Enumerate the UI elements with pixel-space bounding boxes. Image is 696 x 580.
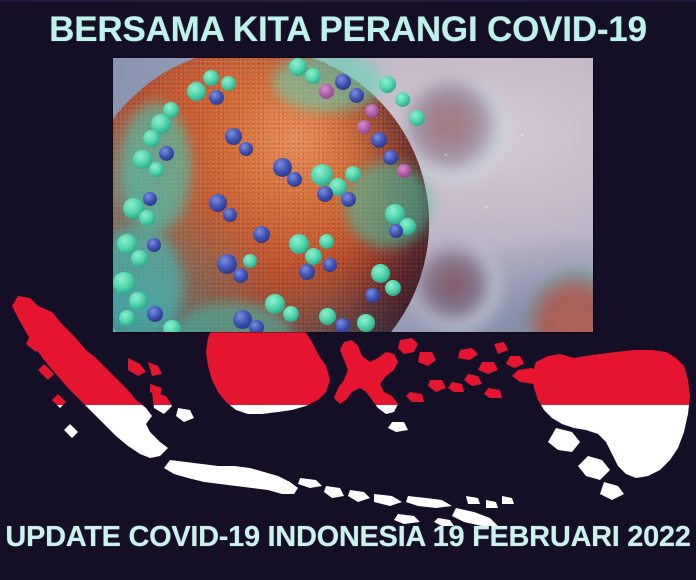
spike-protein [385,280,401,296]
spike-protein [319,234,334,249]
spike-protein [187,82,206,101]
page-title: BERSAMA KITA PERANGI COVID-19 [0,8,696,52]
spike-protein [225,128,242,145]
background-virion-2 [413,244,501,332]
spike-protein [143,130,160,147]
spike-protein [409,110,425,126]
photo-speck [485,206,487,208]
spike-protein [113,272,135,294]
page-footer-title: UPDATE COVID-19 INDONESIA 19 FEBRUARI 20… [0,518,696,556]
spike-protein [305,68,321,84]
spike-protein [209,90,224,105]
spike-protein [383,150,398,165]
spike-protein [379,76,396,93]
photo-speck [521,134,523,136]
spike-protein [365,104,379,118]
virus-photo [113,58,593,332]
spike-protein [119,310,135,326]
spike-protein [357,314,375,332]
spike-protein [317,186,333,202]
spike-protein [371,132,387,148]
spike-protein [365,288,380,303]
spike-protein [389,224,403,238]
spike-protein [335,74,351,90]
spike-protein [159,146,174,161]
spike-protein [319,84,334,99]
spike-protein [147,238,161,252]
spike-protein [253,226,270,243]
spike-protein [203,70,219,86]
spike-protein [345,166,361,182]
spike-protein [397,164,411,178]
spike-protein [233,268,248,283]
spike-protein [129,292,147,310]
spike-protein [371,264,390,283]
spike-protein [149,162,164,177]
top-edge-divider [0,0,696,2]
spike-protein [243,254,257,268]
spike-protein [239,142,253,156]
spike-protein [163,102,179,118]
spike-protein [287,172,302,187]
spike-protein [223,208,237,222]
spike-protein [265,294,285,314]
spike-protein [283,306,299,322]
spike-protein [357,120,371,134]
spike-protein [335,318,350,332]
spike-protein [139,210,155,226]
spike-protein [131,250,148,267]
spike-protein [147,306,163,322]
spike-protein [299,264,315,280]
spike-protein [319,308,336,325]
spike-protein [249,320,264,332]
spike-protein [395,92,410,107]
spike-protein [143,192,157,206]
spike-protein [163,320,181,332]
spike-protein [221,76,236,91]
covid-poster: BERSAMA KITA PERANGI COVID-19 [0,0,696,580]
spike-protein [323,258,337,272]
spike-protein [341,192,356,207]
photo-speck [445,154,447,156]
spike-protein [349,88,364,103]
spike-protein [305,248,322,265]
